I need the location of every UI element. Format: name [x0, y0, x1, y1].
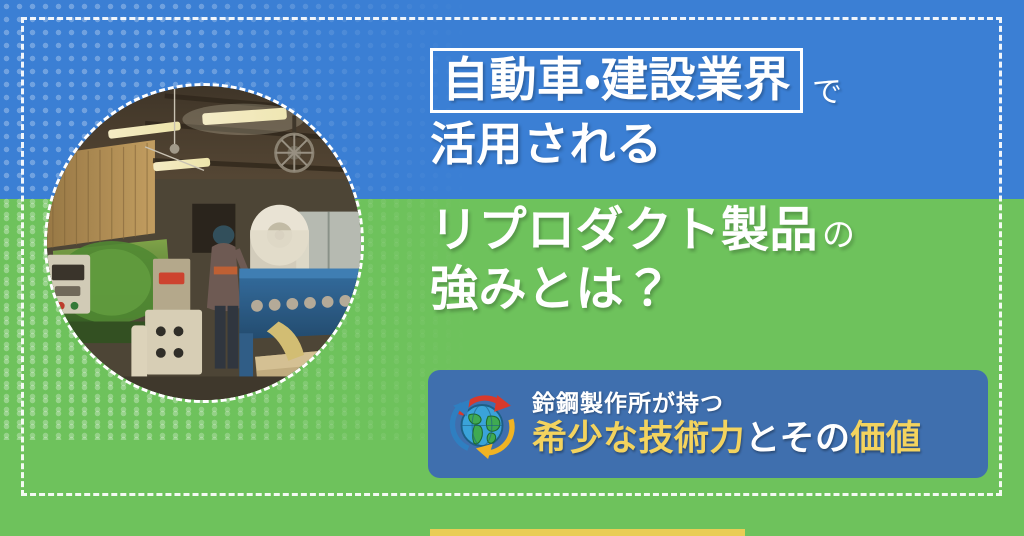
headline-block-bottom: リプロダクト製品 の 強みとは？	[430, 204, 1005, 317]
banner-title: 希少な技術力とその価値	[532, 420, 921, 459]
banner-title-part-1: 希少な技術力	[532, 419, 745, 458]
headline-line-2: 活用される	[430, 117, 1000, 171]
headline-suffix: で	[812, 67, 842, 111]
banner-subtitle: 鈴鋼製作所が持つ	[532, 390, 921, 416]
factory-interior-photo	[47, 86, 361, 400]
subhead-particle: の	[822, 217, 855, 254]
subhead-line-1: リプロダクト製品 の	[430, 204, 1005, 258]
yellow-underline-bar	[430, 529, 745, 536]
banner-canvas: 自動車・建設業界 で 活用される リプロダクト製品 の 強みとは？	[0, 0, 1024, 536]
banner-title-part-3: 価値	[850, 419, 921, 458]
subhead-keyword: リプロダクト製品	[430, 204, 818, 258]
headline-block-top: 自動車・建設業界 で 活用される	[430, 48, 1000, 171]
headline-line-1: 自動車・建設業界 で	[430, 48, 1000, 113]
circular-photo-frame	[44, 83, 364, 403]
bottom-banner: 鈴鋼製作所が持つ 希少な技術力とその価値	[428, 370, 988, 478]
globe-recycle-icon	[444, 386, 520, 462]
banner-title-part-2: とその	[745, 419, 850, 458]
subhead-line-2: 強みとは？	[430, 263, 673, 317]
banner-text-block: 鈴鋼製作所が持つ 希少な技術力とその価値	[532, 390, 921, 459]
boxed-keyword: 自動車・建設業界	[430, 48, 803, 113]
boxed-keyword-label: 自動車・建設業界	[442, 56, 791, 103]
